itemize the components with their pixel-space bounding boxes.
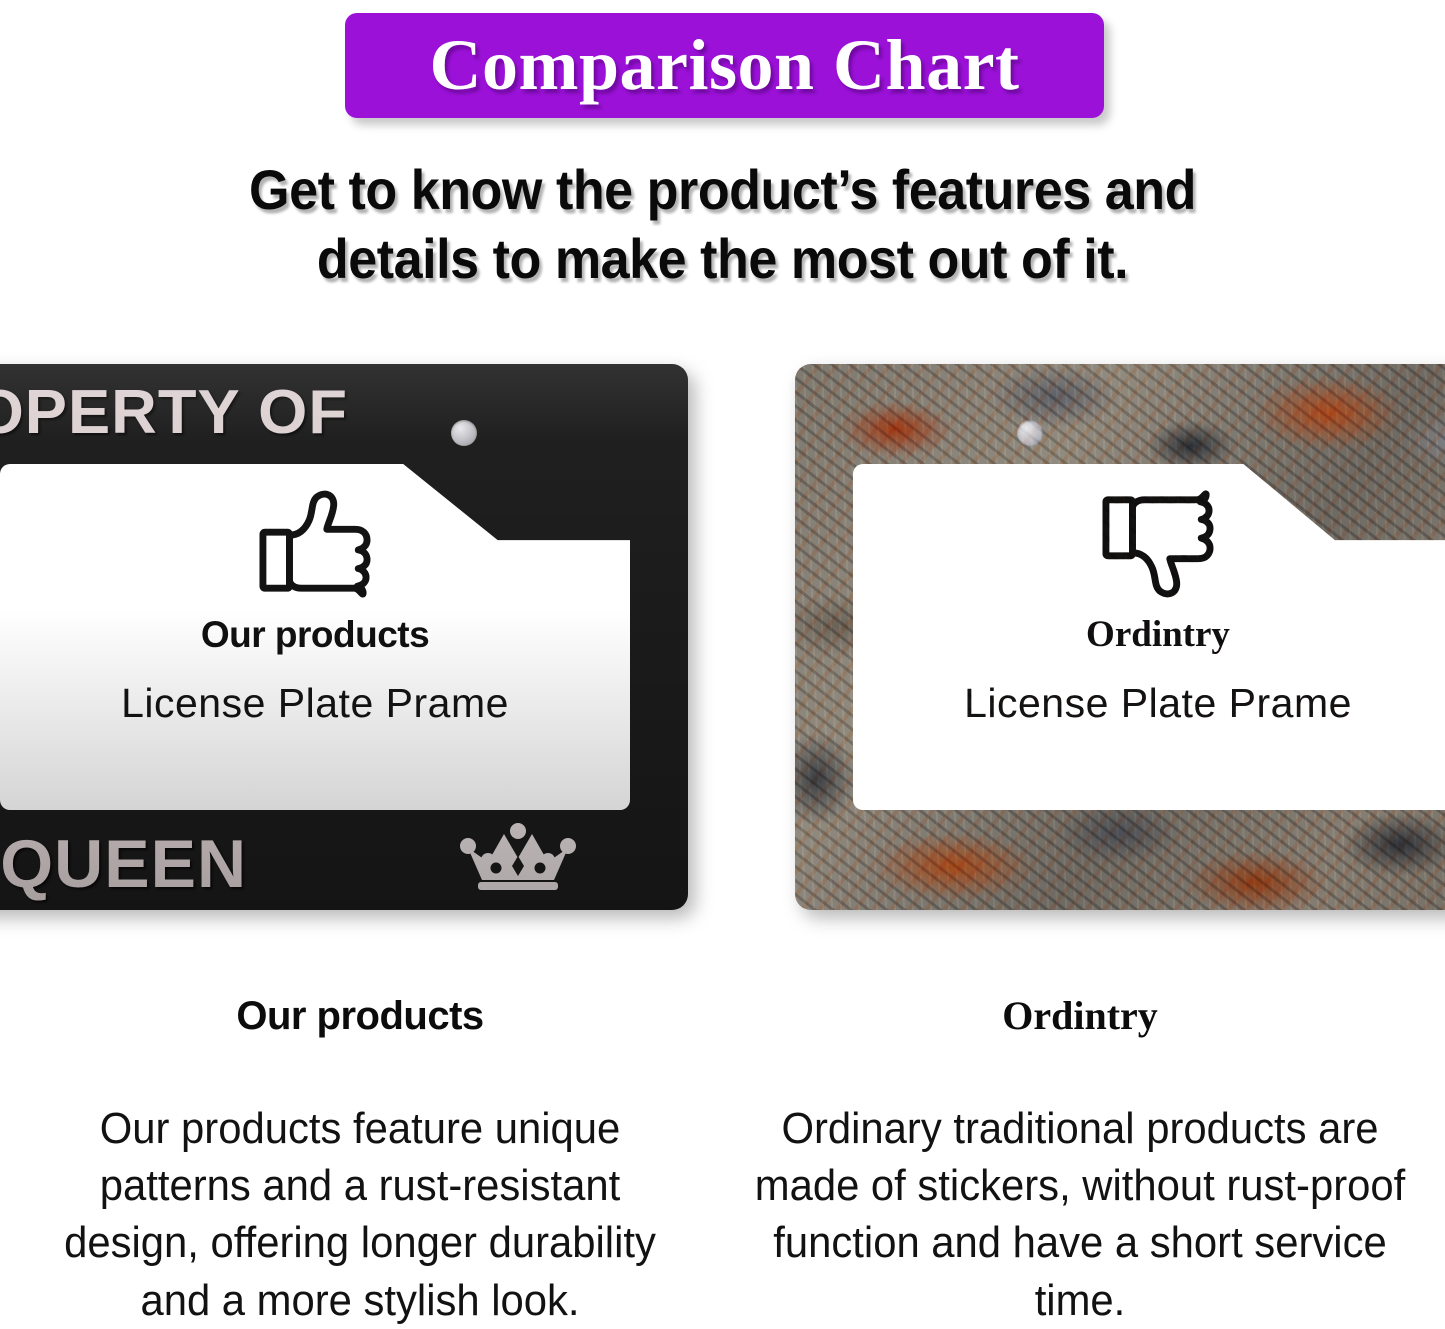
thumbs-up-icon <box>256 488 374 600</box>
our-product-window-subheading: License Plate Prame <box>121 683 509 724</box>
our-product-description-body: Our products feature unique patterns and… <box>37 1100 683 1329</box>
plate-bottom-engraving: E QUEEN <box>0 830 247 898</box>
ordinary-product-plate-image: Ordintry License Plate Prame <box>795 364 1445 910</box>
comparison-chart-title-banner: Comparison Chart <box>345 13 1104 118</box>
our-product-window-heading: Our products <box>201 616 429 653</box>
page-title: Comparison Chart <box>429 24 1019 107</box>
our-product-description-heading: Our products <box>20 996 700 1036</box>
crown-icon <box>458 818 578 896</box>
page-subtitle: Get to know the product’s features and d… <box>51 156 1395 294</box>
mounting-hole-icon <box>1017 420 1043 446</box>
ordinary-product-window-subheading: License Plate Prame <box>964 683 1352 724</box>
our-product-plate-image: ROPERTY OF E QUEEN <box>0 364 688 910</box>
our-product-description-column: Our products Our products feature unique… <box>20 996 700 1329</box>
mounting-hole-icon <box>451 420 477 446</box>
plate-window-left: Our products License Plate Prame <box>0 464 630 810</box>
ordinary-product-description-heading: Ordintry <box>735 996 1425 1036</box>
subtitle-line-1: Get to know the product’s features and <box>51 156 1395 225</box>
plate-window-right: Ordintry License Plate Prame <box>853 464 1445 810</box>
ordinary-product-description-column: Ordintry Ordinary traditional products a… <box>735 996 1425 1329</box>
ordinary-product-window-heading: Ordintry <box>1086 616 1230 653</box>
ordinary-product-description-body: Ordinary traditional products are made o… <box>752 1100 1408 1329</box>
subtitle-line-2: details to make the most out of it. <box>51 225 1395 294</box>
thumbs-down-icon <box>1099 488 1217 600</box>
license-plate-frame-rusted: Ordintry License Plate Prame <box>795 364 1445 910</box>
license-plate-frame-black: ROPERTY OF E QUEEN <box>0 364 688 910</box>
plate-top-engraving: ROPERTY OF <box>0 382 348 444</box>
